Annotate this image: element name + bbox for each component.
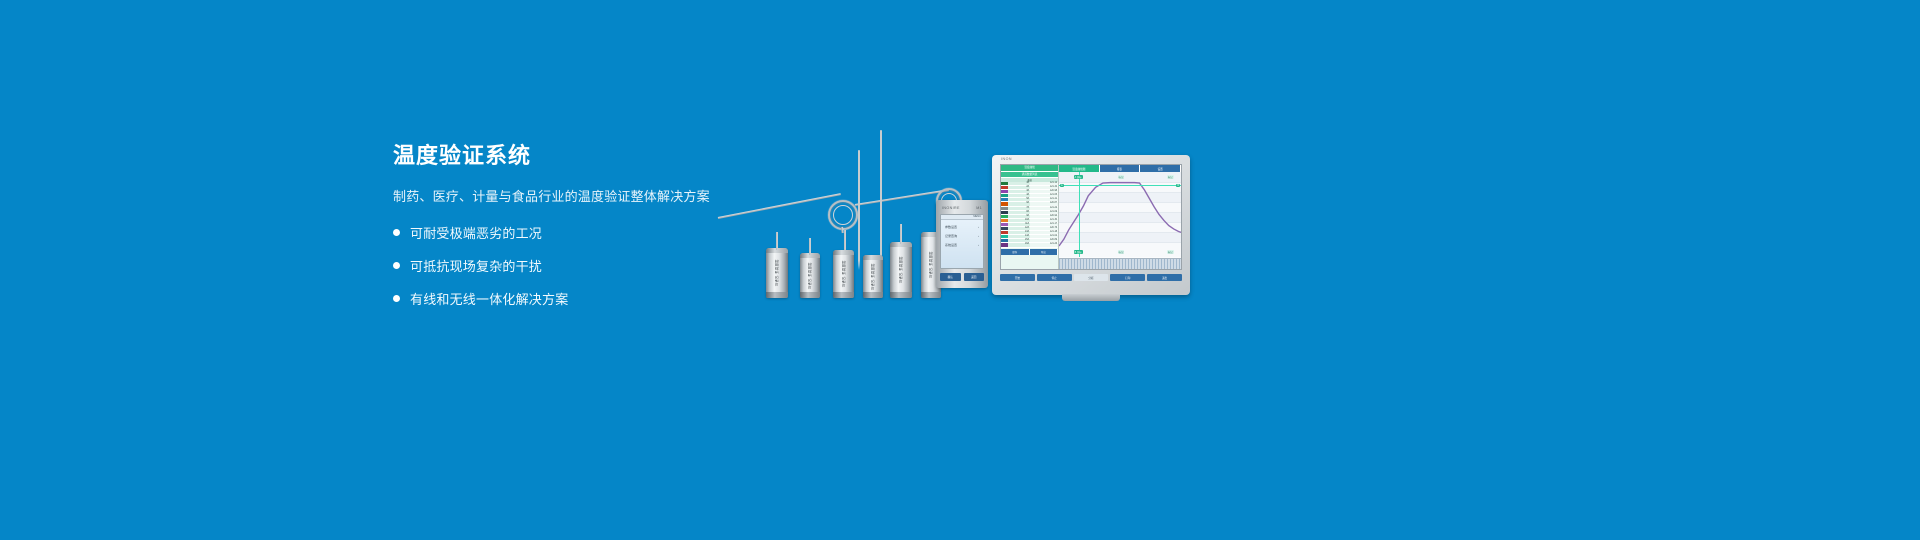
- wireless-logger-4: 温度验证 记录仪: [863, 255, 883, 298]
- channel-value: 121.26: [1030, 243, 1058, 246]
- channel-id: 2#: [1008, 186, 1030, 189]
- save-button[interactable]: 保存: [1001, 249, 1030, 255]
- back-button[interactable]: 返回: [964, 273, 985, 281]
- left-handle-chip[interactable]: A: [1060, 184, 1064, 187]
- probe-cable: [855, 189, 949, 206]
- start-button[interactable]: 开始: [1000, 274, 1035, 281]
- handheld-device[interactable]: INONIRE M1 MENU 参数设置 › 记录查询 › 系统设置 › 确认 …: [936, 200, 988, 288]
- channel-value: 121.17: [1030, 223, 1058, 226]
- monitor-stand: [1062, 294, 1120, 301]
- chart-tabs: 温度曲线图 报表 设置: [1059, 165, 1181, 172]
- handheld-screen-title: MENU: [941, 215, 983, 220]
- channel-value: 120.98: [1030, 190, 1058, 193]
- handheld-model: M1: [976, 206, 982, 210]
- logger-label: 温度验证 记录仪: [775, 259, 780, 286]
- hero-banner: 温度验证系统 制药、医疗、计量与食品行业的温度验证整体解决方案 可耐受极端恶劣的…: [0, 0, 1920, 540]
- list-item[interactable]: 系统设置 ›: [941, 243, 983, 247]
- monitor-brand: INON: [1001, 157, 1012, 161]
- channel-value: 120.87: [1030, 202, 1058, 205]
- needle-probe-taller: [880, 130, 882, 270]
- channel-id: 8#: [1008, 211, 1030, 214]
- logger-stem: [809, 238, 811, 255]
- print-button[interactable]: 打印: [1110, 274, 1145, 281]
- channel-id: 16#: [1008, 243, 1030, 246]
- channel-id: 4#: [1008, 194, 1030, 197]
- exit-button[interactable]: 退出: [1147, 274, 1182, 281]
- monitor-toolbar: 开始 停止 分析 打印 退出: [1000, 274, 1182, 281]
- tab-chart[interactable]: 温度曲线图: [1059, 165, 1100, 172]
- chevron-right-icon: ›: [978, 234, 979, 238]
- chevron-right-icon: ›: [978, 243, 979, 247]
- tab-settings[interactable]: 设置: [1140, 165, 1181, 172]
- channel-value: 121.05: [1030, 194, 1058, 197]
- channel-value: 120.94: [1030, 215, 1058, 218]
- menu-item-label: 系统设置: [945, 243, 957, 247]
- channel-id: 9#: [1008, 215, 1030, 218]
- channel-id: 15#: [1008, 239, 1030, 242]
- logger-label: 温度验证 记录仪: [871, 263, 876, 290]
- table-row[interactable]: 16#121.26: [1001, 243, 1058, 247]
- logger-label: 温度验证 记录仪: [929, 251, 934, 278]
- cursor-top-chip[interactable]: A 游标: [1074, 175, 1083, 179]
- channel-id: 14#: [1008, 235, 1030, 238]
- menu-item-label: 参数设置: [945, 225, 957, 229]
- channel-id: 13#: [1008, 231, 1030, 234]
- monitor-display: INON 温度曲线 通道数据列表 通道 1#121.12 2#121.34 3#…: [992, 155, 1190, 295]
- chevron-right-icon: ›: [978, 225, 979, 229]
- logger-label: 温度验证 记录仪: [899, 256, 904, 283]
- confirm-button[interactable]: 确认: [940, 273, 961, 281]
- channel-id: 7#: [1008, 207, 1030, 210]
- channel-id: 10#: [1008, 219, 1030, 222]
- menu-item-label: 记录查询: [945, 234, 957, 238]
- needle-probe-tall: [858, 150, 860, 270]
- channel-value: 121.09: [1030, 211, 1058, 214]
- logger-label: 温度验证 记录仪: [808, 262, 813, 289]
- feature-label: 可耐受极端恶劣的工况: [410, 223, 542, 242]
- wireless-logger-1: 温度验证 记录仪: [766, 248, 788, 298]
- panel-footer: 保存 导出: [1001, 249, 1058, 255]
- right-handle-chip[interactable]: B: [1176, 184, 1180, 187]
- channel-id: 5#: [1008, 198, 1030, 201]
- monitor-screen: 温度曲线 通道数据列表 通道 1#121.12 2#121.34 3#120.9…: [1000, 164, 1182, 270]
- bullet-dot-icon: [393, 262, 400, 269]
- logger-stem: [776, 232, 778, 250]
- feature-label: 可抵抗现场复杂的干扰: [410, 256, 542, 275]
- ghost-marker-3[interactable]: 标记: [1118, 250, 1125, 254]
- bullet-dot-icon: [393, 229, 400, 236]
- ghost-marker-4[interactable]: 标记: [1167, 250, 1174, 254]
- handheld-brand: INONIRE: [942, 206, 960, 210]
- channel-table[interactable]: 1#121.12 2#121.34 3#120.98 4#121.05 5#12…: [1001, 182, 1058, 248]
- cable-coil: [828, 200, 858, 230]
- tab-report[interactable]: 报表: [1100, 165, 1141, 172]
- channel-id: 1#: [1008, 182, 1030, 185]
- export-button[interactable]: 导出: [1030, 249, 1059, 255]
- channel-value: 121.41: [1030, 198, 1058, 201]
- handheld-keypad: 确认 返回: [940, 273, 984, 281]
- logger-stem: [900, 224, 902, 244]
- channel-value: 120.89: [1030, 239, 1058, 242]
- cursor-bottom-chip[interactable]: B 游标: [1074, 250, 1083, 254]
- list-item[interactable]: 参数设置 ›: [941, 225, 983, 229]
- channel-data-panel: 温度曲线 通道数据列表 通道 1#121.12 2#121.34 3#120.9…: [1001, 165, 1059, 269]
- channel-id: 3#: [1008, 190, 1030, 193]
- time-cursor-line[interactable]: [1079, 172, 1080, 257]
- ghost-marker-2[interactable]: 标记: [1167, 175, 1174, 179]
- channel-id: 11#: [1008, 223, 1030, 226]
- channel-value: 121.30: [1030, 219, 1058, 222]
- channel-value: 121.02: [1030, 235, 1058, 238]
- feature-label: 有线和无线一体化解决方案: [410, 289, 568, 308]
- handheld-brand-row: INONIRE M1: [940, 206, 984, 210]
- wireless-logger-5: 温度验证 记录仪: [890, 242, 912, 298]
- channel-value: 120.76: [1030, 227, 1058, 230]
- wireless-logger-3: 温度验证 记录仪: [833, 250, 854, 298]
- channel-value: 121.34: [1030, 186, 1058, 189]
- logger-label: 温度验证 记录仪: [841, 260, 846, 287]
- stop-button[interactable]: 停止: [1037, 274, 1072, 281]
- chart-timeline-scrollbar[interactable]: [1059, 258, 1181, 269]
- chart-panel: 温度曲线图 报表 设置: [1059, 165, 1181, 269]
- channel-value: 121.22: [1030, 207, 1058, 210]
- analyze-button[interactable]: 分析: [1074, 274, 1109, 281]
- channel-value: 121.12: [1030, 182, 1058, 185]
- setpoint-cursor-line[interactable]: [1059, 185, 1181, 186]
- channel-id: 12#: [1008, 227, 1030, 230]
- bullet-dot-icon: [393, 295, 400, 302]
- probe-cable: [718, 193, 841, 219]
- list-item[interactable]: 记录查询 ›: [941, 234, 983, 238]
- handheld-screen: MENU 参数设置 › 记录查询 › 系统设置 ›: [940, 214, 984, 269]
- wireless-logger-2: 温度验证 记录仪: [800, 253, 820, 298]
- channel-id: 6#: [1008, 202, 1030, 205]
- temperature-chart: A 游标 B 游标 A B 标记 标记 标记 标记: [1059, 172, 1181, 257]
- ghost-marker-1[interactable]: 标记: [1118, 175, 1125, 179]
- channel-value: 121.48: [1030, 231, 1058, 234]
